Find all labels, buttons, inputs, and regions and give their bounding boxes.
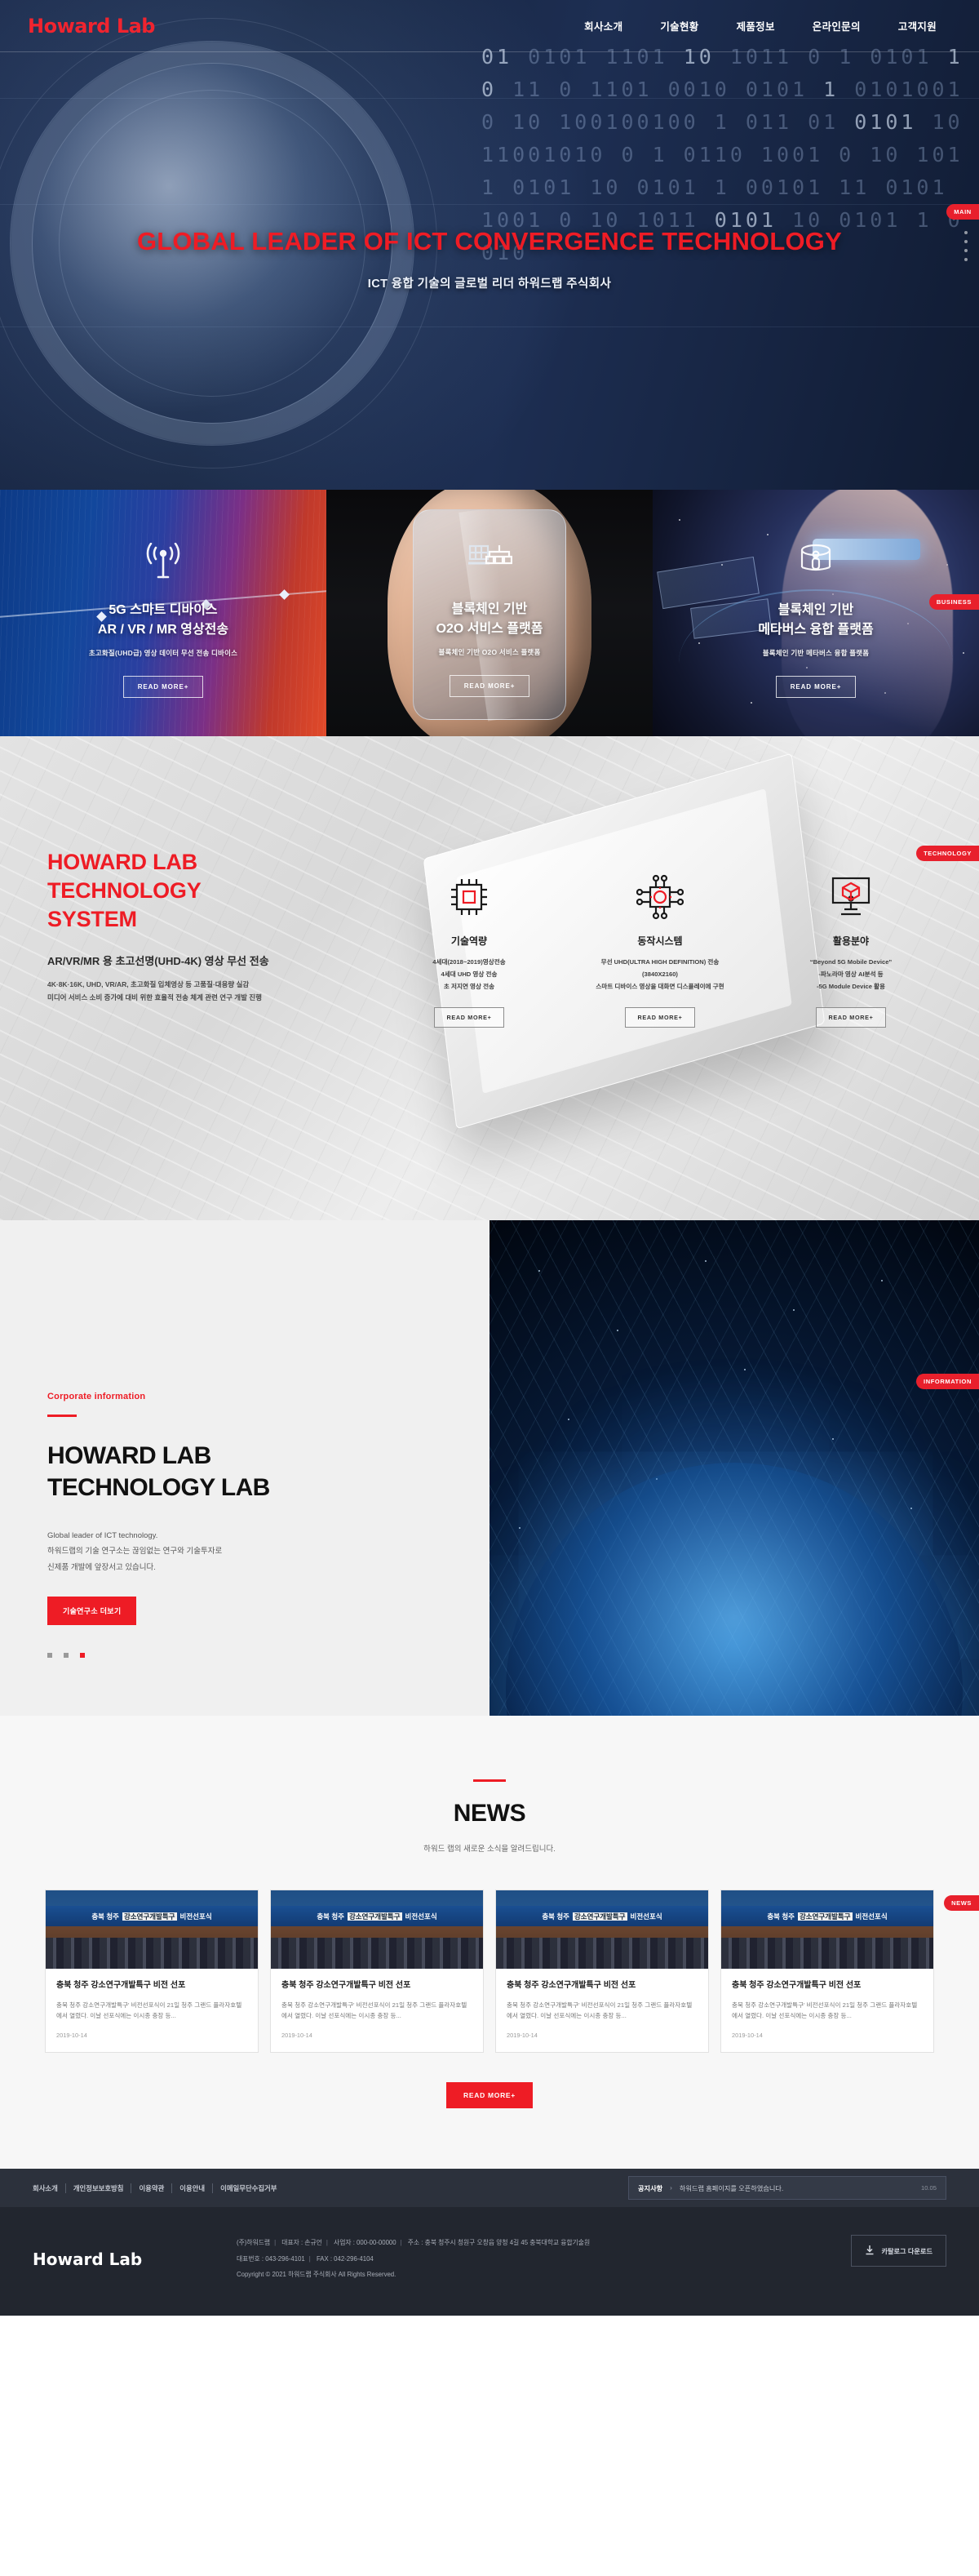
news-grid: 충북 청주 강소연구개발특구 비전선포식 충북 청주 강소연구개발특구 비전 선…: [0, 1890, 979, 2053]
news-date: 2019-10-14: [732, 2032, 923, 2039]
news-title: 충북 청주 강소연구개발특구 비전 선포: [507, 1980, 698, 1992]
promo-desc-1: 초고화질(UHD급) 영상 데이터 무선 전송 디바이스: [89, 648, 237, 658]
hero-section: 01 0101 1101 10 1011 0 1 0101 10 11 0 11…: [0, 0, 979, 490]
news-card[interactable]: 충북 청주 강소연구개발특구 비전선포식 충북 청주 강소연구개발특구 비전 선…: [45, 1890, 259, 2053]
corporate-slider-dots[interactable]: [47, 1653, 489, 1658]
news-desc: 충북 청주 강소연구개발특구' 비전선포식이 21일 청주 그랜드 플라자호텔에…: [281, 2000, 472, 2022]
tech-column-line-1c: 초 저지연 영상 전송: [383, 981, 555, 993]
technology-heading-1: HOWARD LAB: [47, 848, 269, 877]
promo-title-1: 5G 스마트 디바이스: [109, 601, 217, 620]
promo-cards-section: 5G 스마트 디바이스 AR / VR / MR 영상전송 초고화질(UHD급)…: [0, 490, 979, 736]
footer-logo: Howard Lab: [33, 2235, 237, 2269]
news-title: 충북 청주 강소연구개발특구 비전 선포: [732, 1980, 923, 1992]
corporate-kicker: Corporate information: [47, 1392, 489, 1401]
side-rail-information: INFORMATION: [916, 1374, 979, 1389]
tech-column-line-2c: 스마트 디바이스 영상을 대화면 디스플레이에 구현: [574, 981, 746, 993]
side-rail-news: NEWS: [944, 1895, 979, 1911]
thumb-caption-pre: 충북 청주: [542, 1912, 569, 1921]
site-header: Howard Lab 회사소개 기술현황 제품정보 온라인문의 고객지원: [0, 0, 979, 52]
side-rail-business: BUSINESS: [929, 594, 979, 610]
technology-system-section: HOWARD LAB TECHNOLOGY SYSTEM AR/VR/MR 용 …: [0, 736, 979, 1220]
nav-item-technology[interactable]: 기술현황: [660, 18, 698, 33]
side-rail-main: MAIN: [946, 204, 979, 267]
tech-column-application: 활용분야 “Beyond 5G Mobile Device” -파노라마 영상 …: [765, 870, 937, 1028]
technology-heading-3: SYSTEM: [47, 905, 269, 934]
promo-title-2b: O2O 서비스 플랫폼: [436, 620, 543, 638]
news-title: 충북 청주 강소연구개발특구 비전 선포: [56, 1980, 247, 1992]
footer-utility-bar: 회사소개 개인정보보호방침 이용약관 이용안내 이메일무단수집거부 공지사항 ›…: [0, 2169, 979, 2207]
news-card[interactable]: 충북 청주 강소연구개발특구 비전선포식 충북 청주 강소연구개발특구 비전 선…: [495, 1890, 709, 2053]
shopping-cart-network-icon: [467, 544, 512, 582]
rail-badge-information[interactable]: INFORMATION: [916, 1374, 979, 1389]
technology-heading-2: TECHNOLOGY: [47, 877, 269, 905]
catalog-download-label: 카탈로그 다운로드: [881, 2246, 932, 2256]
corporate-more-button[interactable]: 기술연구소 더보기: [47, 1597, 136, 1625]
gear-circuit-icon: [574, 870, 746, 924]
technology-copy: HOWARD LAB TECHNOLOGY SYSTEM AR/VR/MR 용 …: [47, 848, 269, 1005]
thumb-caption-hl: 강소연구개발특구: [348, 1912, 402, 1921]
corporate-heading-2: TECHNOLOGY LAB: [47, 1472, 489, 1503]
news-date: 2019-10-14: [507, 2032, 698, 2039]
tech-read-more-2[interactable]: READ MORE+: [625, 1007, 694, 1028]
footer-business-no: 사업자 : 000-00-00000: [334, 2239, 396, 2246]
news-read-more-button[interactable]: READ MORE+: [446, 2082, 533, 2108]
footer-phone: 대표번호 : 043-296-4101: [237, 2255, 305, 2263]
site-logo[interactable]: Howard Lab: [28, 15, 155, 38]
rail-dots[interactable]: [946, 231, 979, 261]
news-thumbnail: 충북 청주 강소연구개발특구 비전선포식: [721, 1890, 933, 1969]
corporate-accent-bar: [47, 1415, 77, 1417]
technology-subtitle: AR/VR/MR 용 초고선명(UHD-4K) 영상 무선 전송: [47, 953, 269, 968]
corporate-desc-3: 신제품 개발에 앞장서고 있습니다.: [47, 1560, 489, 1575]
footer-link-terms[interactable]: 이용약관: [131, 2183, 171, 2193]
notice-time: 10.05: [921, 2184, 937, 2192]
rail-badge-technology[interactable]: TECHNOLOGY: [916, 846, 979, 861]
metaverse-avatar-icon: [795, 543, 837, 583]
rail-badge-main[interactable]: MAIN: [946, 204, 979, 220]
cpu-chip-icon: [383, 870, 555, 924]
tech-column-title-3: 활용분야: [765, 934, 937, 948]
technology-desc-2: 미디어 서비스 소비 증가에 대비 위한 효율적 전송 체계 관련 연구 개발 …: [47, 991, 269, 1004]
tech-column-line-3b: -파노라마 영상 AI분석 등: [765, 969, 937, 981]
rail-badge-business[interactable]: BUSINESS: [929, 594, 979, 610]
promo-title-3: 블록체인 기반: [778, 601, 854, 620]
news-subtitle: 하워드 랩의 새로운 소식을 알려드립니다.: [0, 1842, 979, 1854]
nav-item-support[interactable]: 고객지원: [898, 18, 937, 33]
thumb-caption-pre: 충북 청주: [317, 1912, 344, 1921]
news-read-more-wrap: READ MORE+: [0, 2082, 979, 2108]
news-desc: 충북 청주 강소연구개발특구' 비전선포식이 21일 청주 그랜드 플라자호텔에…: [56, 2000, 247, 2022]
slider-dot-3[interactable]: [80, 1653, 85, 1658]
side-rail-technology: TECHNOLOGY: [916, 846, 979, 861]
promo-card-o2o[interactable]: 블록체인 기반 O2O 서비스 플랫폼 블록체인 기반 O2O 서비스 플랫폼 …: [326, 490, 653, 736]
wifi-signal-icon: [142, 543, 184, 583]
corporate-desc-1: Global leader of ICT technology.: [47, 1528, 489, 1543]
news-thumbnail: 충북 청주 강소연구개발특구 비전선포식: [496, 1890, 708, 1969]
news-card[interactable]: 충북 청주 강소연구개발특구 비전선포식 충북 청주 강소연구개발특구 비전 선…: [720, 1890, 934, 2053]
technology-columns: 기술역량 4세대(2018~2019)영상전송 4세대 UHD 영상 전송 초 …: [383, 870, 937, 1028]
tech-column-line-3c: -5G Module Device 활용: [765, 981, 937, 993]
promo-card-metaverse[interactable]: 블록체인 기반 메타버스 융합 플랫폼 블록체인 기반 메타버스 융합 플랫폼 …: [653, 490, 979, 736]
news-card[interactable]: 충북 청주 강소연구개발특구 비전선포식 충북 청주 강소연구개발특구 비전 선…: [270, 1890, 484, 2053]
news-heading: NEWS: [0, 1800, 979, 1828]
slider-dot-1[interactable]: [47, 1653, 52, 1658]
rail-badge-news[interactable]: NEWS: [944, 1895, 979, 1911]
corporate-desc-2: 하워드랩의 기술 연구소는 끊임없는 연구와 기술투자로: [47, 1543, 489, 1559]
thumb-caption-post: 비전선포식: [631, 1912, 662, 1921]
thumb-caption-post: 비전선포식: [856, 1912, 888, 1921]
news-date: 2019-10-14: [56, 2032, 247, 2039]
promo-card-5g[interactable]: 5G 스마트 디바이스 AR / VR / MR 영상전송 초고화질(UHD급)…: [0, 490, 326, 736]
footer-company-info: (주)하워드랩| 대표자 : 손규언| 사업자 : 000-00-00000| …: [237, 2235, 590, 2282]
footer-ceo: 대표자 : 손규언: [281, 2239, 322, 2246]
footer-fax: FAX : 042-296-4104: [317, 2255, 374, 2263]
tech-column-line-3a: “Beyond 5G Mobile Device”: [765, 957, 937, 969]
thumb-caption-hl: 강소연구개발특구: [122, 1912, 177, 1921]
promo-read-more-1[interactable]: READ MORE+: [123, 676, 204, 698]
footer-link-privacy[interactable]: 개인정보보호방침: [65, 2183, 131, 2193]
promo-read-more-2[interactable]: READ MORE+: [450, 675, 530, 697]
news-thumbnail: 충북 청주 강소연구개발특구 비전선포식: [271, 1890, 483, 1969]
main-navigation: 회사소개 기술현황 제품정보 온라인문의 고객지원: [584, 18, 951, 33]
thumb-caption-hl: 강소연구개발특구: [573, 1912, 627, 1921]
news-title: 충북 청주 강소연구개발특구 비전 선포: [281, 1980, 472, 1992]
tech-column-line-1a: 4세대(2018~2019)영상전송: [383, 957, 555, 969]
footer-copyright: Copyright © 2021 하워드랩 주식회사 All Rights Re…: [237, 2267, 590, 2282]
chevron-right-icon: ›: [670, 2184, 672, 2192]
notice-bar[interactable]: 공지사항 › 하워드랩 홈페이지를 오픈하였습니다. 10.05: [628, 2176, 946, 2200]
promo-desc-3: 블록체인 기반 메타버스 융합 플랫폼: [763, 648, 870, 658]
promo-read-more-3[interactable]: READ MORE+: [776, 676, 857, 698]
promo-title-2: 블록체인 기반: [452, 600, 528, 619]
thumb-caption-post: 비전선포식: [405, 1912, 437, 1921]
thumb-caption-post: 비전선포식: [180, 1912, 212, 1921]
homepage: Howard Lab 회사소개 기술현황 제품정보 온라인문의 고객지원 01 …: [0, 0, 979, 2316]
hero-subtitle: ICT 융합 기술의 글로벌 리더 하워드랩 주식회사: [0, 274, 979, 291]
corporate-information-section: Corporate information HOWARD LAB TECHNOL…: [0, 1220, 979, 1716]
corporate-heading-1: HOWARD LAB: [47, 1440, 489, 1472]
tech-column-line-1b: 4세대 UHD 영상 전송: [383, 969, 555, 981]
nav-item-products[interactable]: 제품정보: [737, 18, 775, 33]
footer-links: 회사소개 개인정보보호방침 이용약관 이용안내 이메일무단수집거부: [33, 2183, 284, 2193]
hero-title: GLOBAL LEADER OF ICT CONVERGENCE TECHNOL…: [0, 227, 979, 256]
download-icon: [865, 2245, 875, 2257]
thumb-caption-pre: 충북 청주: [767, 1912, 795, 1921]
hero-copy: GLOBAL LEADER OF ICT CONVERGENCE TECHNOL…: [0, 227, 979, 291]
footer-link-company[interactable]: 회사소개: [33, 2183, 65, 2193]
promo-desc-2: 블록체인 기반 O2O 서비스 플랫폼: [438, 647, 540, 657]
footer-company-name: (주)하워드랩: [237, 2239, 270, 2246]
news-date: 2019-10-14: [281, 2032, 472, 2039]
technology-desc-1: 4K·8K·16K, UHD, VR/AR, 초고화질 입체영상 등 고품질·대…: [47, 978, 269, 991]
footer-link-guide[interactable]: 이용안내: [171, 2183, 212, 2193]
tech-read-more-1[interactable]: READ MORE+: [434, 1007, 503, 1028]
footer-address: 주소 : 충북 청주시 청원구 오창읍 양청 4길 45 충북대학교 융합기술원: [408, 2239, 590, 2246]
footer-link-email-policy[interactable]: 이메일무단수집거부: [212, 2183, 284, 2193]
news-thumbnail: 충북 청주 강소연구개발특구 비전선포식: [46, 1890, 258, 1969]
news-accent-bar: [473, 1779, 506, 1782]
promo-title-1b: AR / VR / MR 영상전송: [98, 620, 228, 639]
notice-text: 하워드랩 홈페이지를 오픈하였습니다.: [680, 2183, 783, 2193]
corporate-copy: Corporate information HOWARD LAB TECHNOL…: [0, 1220, 489, 1716]
tech-column-line-2b: (3840X2160): [574, 969, 746, 981]
catalog-download-button[interactable]: 카탈로그 다운로드: [851, 2235, 946, 2267]
notice-label: 공지사항: [638, 2183, 662, 2193]
tech-read-more-3[interactable]: READ MORE+: [816, 1007, 885, 1028]
corporate-globe-visual: INFORMATION: [489, 1220, 979, 1716]
thumb-caption-pre: 충북 청주: [91, 1912, 119, 1921]
tech-column-line-2a: 무선 UHD(ULTRA HIGH DEFINITION) 전송: [574, 957, 746, 969]
tech-column-title-2: 동작시스템: [574, 934, 746, 948]
news-section: NEWS 하워드 랩의 새로운 소식을 알려드립니다. 충북 청주 강소연구개발…: [0, 1716, 979, 2169]
slider-dot-2[interactable]: [64, 1653, 69, 1658]
promo-title-3b: 메타버스 융합 플랫폼: [758, 620, 873, 639]
tech-column-system: 동작시스템 무선 UHD(ULTRA HIGH DEFINITION) 전송 (…: [574, 870, 746, 1028]
monitor-cube-icon: [765, 870, 937, 924]
site-footer: Howard Lab (주)하워드랩| 대표자 : 손규언| 사업자 : 000…: [0, 2207, 979, 2315]
tech-column-title-1: 기술역량: [383, 934, 555, 948]
news-desc: 충북 청주 강소연구개발특구' 비전선포식이 21일 청주 그랜드 플라자호텔에…: [507, 2000, 698, 2022]
news-desc: 충북 청주 강소연구개발특구' 비전선포식이 21일 청주 그랜드 플라자호텔에…: [732, 2000, 923, 2022]
nav-item-company[interactable]: 회사소개: [584, 18, 622, 33]
nav-item-inquiry[interactable]: 온라인문의: [813, 18, 861, 33]
thumb-caption-hl: 강소연구개발특구: [798, 1912, 853, 1921]
tech-column-capability: 기술역량 4세대(2018~2019)영상전송 4세대 UHD 영상 전송 초 …: [383, 870, 555, 1028]
